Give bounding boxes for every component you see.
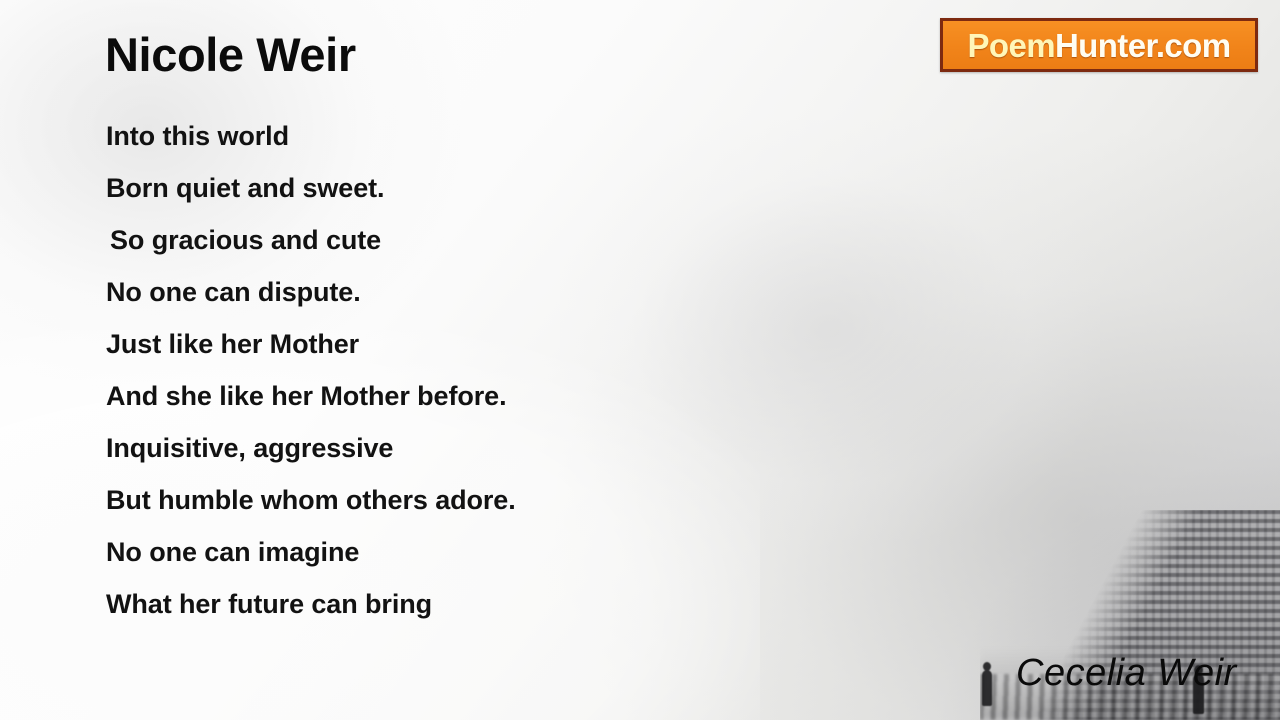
poem-line: Born quiet and sweet.: [106, 162, 886, 214]
poem-line: But humble whom others adore.: [106, 474, 886, 526]
poem-line: And she like her Mother before.: [106, 370, 886, 422]
poem-line: Inquisitive, aggressive: [106, 422, 886, 474]
page-title: Nicole Weir: [105, 27, 356, 82]
poem-image-card: Nicole Weir Into this world Born quiet a…: [0, 0, 1280, 720]
poem-line: What her future can bring: [106, 578, 886, 630]
brand-wordmark: PoemHunter.com: [967, 29, 1230, 62]
poem-line: No one can dispute.: [106, 266, 886, 318]
content-layer: Nicole Weir Into this world Born quiet a…: [0, 0, 1280, 720]
brand-name-second-part: Hunter.com: [1055, 27, 1231, 64]
poem-line: Just like her Mother: [106, 318, 886, 370]
author-signature: Cecelia Weir: [1016, 652, 1237, 695]
poem-text: Into this world Born quiet and sweet. So…: [106, 110, 886, 630]
poem-line: So gracious and cute: [106, 214, 886, 266]
poemhunter-logo[interactable]: PoemHunter.com: [940, 18, 1258, 72]
poem-line: Into this world: [106, 110, 886, 162]
brand-name-first-part: Poem: [967, 27, 1054, 64]
poem-line: No one can imagine: [106, 526, 886, 578]
